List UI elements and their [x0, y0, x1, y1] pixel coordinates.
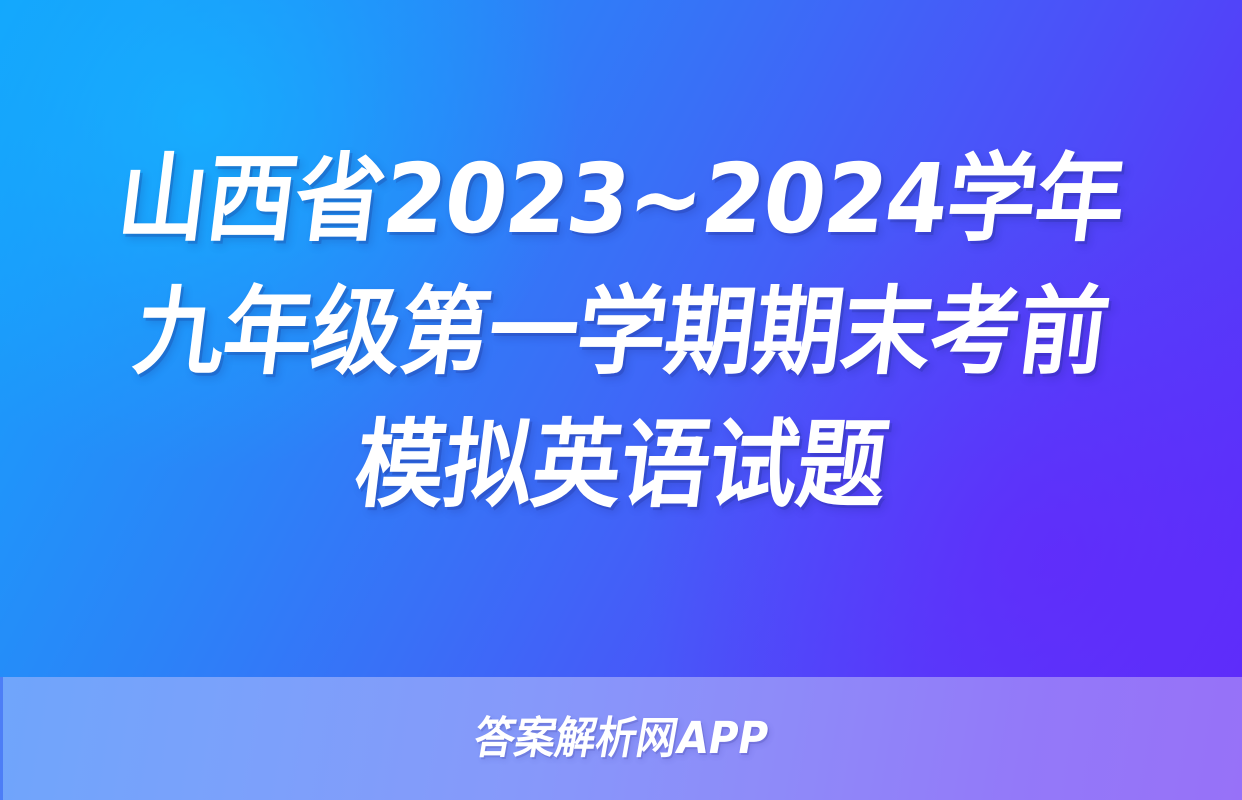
exam-title-line-2: 九年级第一学期期末考前 — [127, 266, 1115, 399]
app-watermark-label: 答案解析网APP — [470, 715, 772, 763]
exam-title-line-1: 山西省2023~2024学年 — [110, 133, 1131, 266]
footer-watermark-band: 答案解析网APP — [0, 677, 1242, 800]
exam-title-line-3: 模拟英语试题 — [348, 399, 894, 532]
exam-cover-poster: 山西省2023~2024学年 九年级第一学期期末考前 模拟英语试题 答案解析网A… — [0, 0, 1242, 800]
exam-title-block: 山西省2023~2024学年 九年级第一学期期末考前 模拟英语试题 — [0, 0, 1242, 677]
